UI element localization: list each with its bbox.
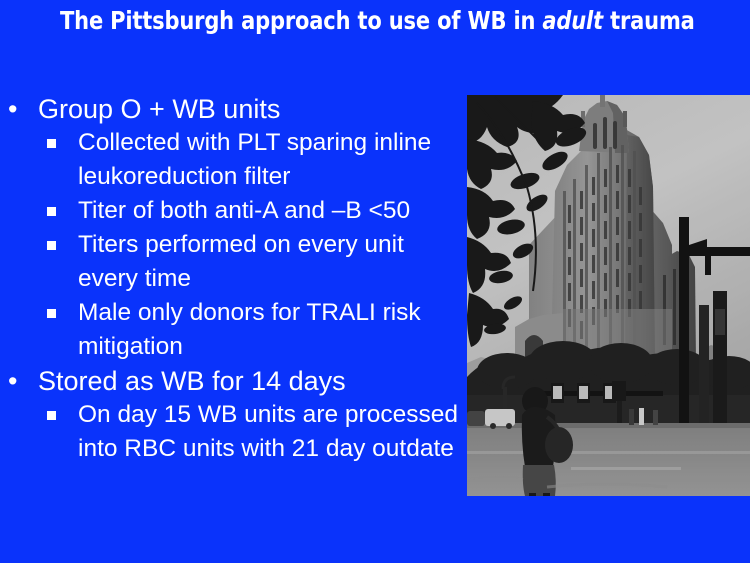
list-item: On day 15 WB units are processed into RB… — [0, 398, 468, 466]
list-item-label: Collected with PLT sparing inline leukor… — [78, 126, 468, 194]
square-bullet-icon — [47, 309, 56, 318]
page-title-part-before: The Pittsburgh approach to use of WB in — [60, 6, 542, 35]
bullet-list: • Group O + WB units Collected with PLT … — [0, 92, 468, 466]
square-bullet-icon — [47, 241, 56, 250]
list-item: Titer of both anti-A and –B <50 — [0, 194, 468, 228]
cathedral-of-learning-photo — [467, 95, 750, 496]
photo-artwork — [467, 95, 750, 496]
list-item-label: Stored as WB for 14 days — [38, 364, 468, 398]
list-item-label: Group O + WB units — [38, 92, 468, 126]
list-item: • Group O + WB units — [0, 92, 468, 126]
list-item-label: Titers performed on every unit every tim… — [78, 228, 468, 296]
list-item: Titers performed on every unit every tim… — [0, 228, 468, 296]
square-bullet-icon — [47, 139, 56, 148]
list-item-label: On day 15 WB units are processed into RB… — [78, 398, 468, 466]
page-title-emphasis: adult — [542, 6, 603, 35]
square-bullet-icon — [47, 207, 56, 216]
disc-bullet-icon: • — [8, 92, 17, 126]
square-bullet-icon — [47, 411, 56, 420]
list-item: Male only donors for TRALI risk mitigati… — [0, 296, 468, 364]
presentation-slide: The Pittsburgh approach to use of WB in … — [0, 0, 750, 563]
list-item-label: Titer of both anti-A and –B <50 — [78, 194, 468, 228]
list-item: Collected with PLT sparing inline leukor… — [0, 126, 468, 194]
page-title: The Pittsburgh approach to use of WB in … — [60, 6, 690, 36]
disc-bullet-icon: • — [8, 364, 17, 398]
list-item: • Stored as WB for 14 days — [0, 364, 468, 398]
page-title-part-after: trauma — [603, 6, 695, 35]
list-item-label: Male only donors for TRALI risk mitigati… — [78, 296, 468, 364]
